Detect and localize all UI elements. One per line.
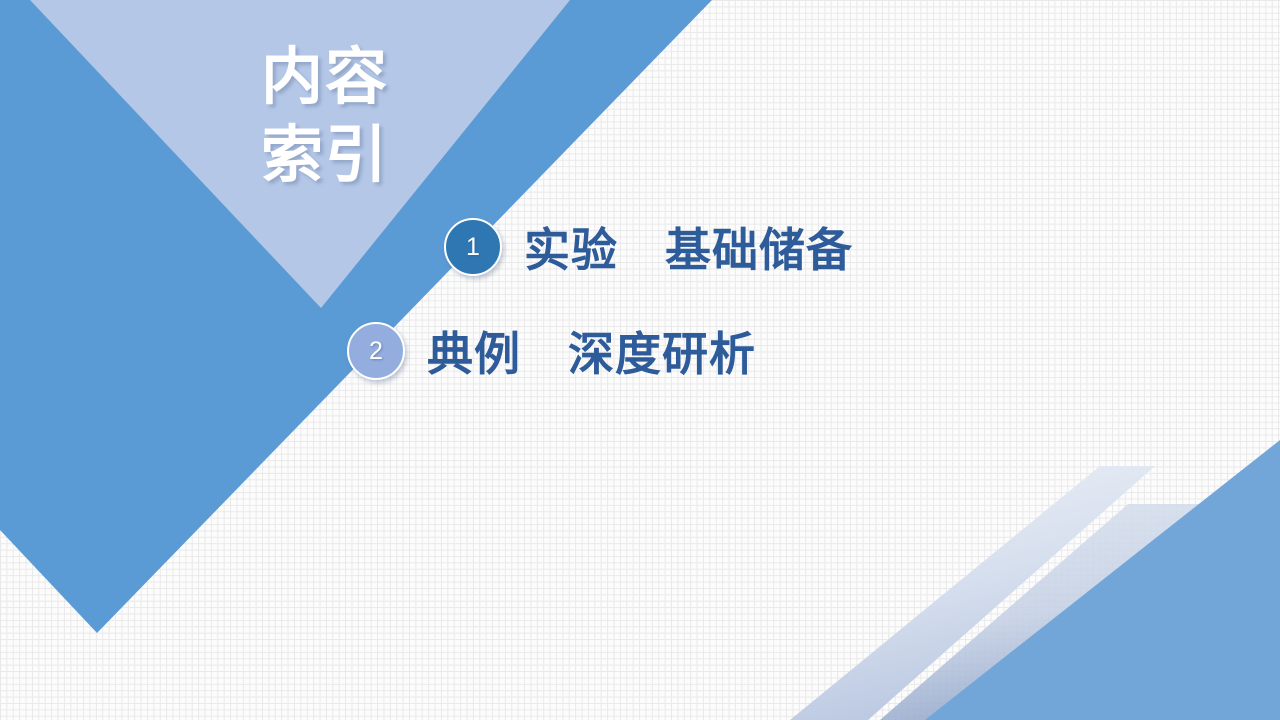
index-number-badge-2[interactable]: 2 bbox=[347, 322, 405, 380]
slide-canvas: 内容 索引 1 实验 基础储备 2 典例 深度研析 bbox=[0, 0, 1280, 720]
index-item-1[interactable]: 1 实验 基础储备 bbox=[444, 214, 853, 280]
page-title-line-2: 索引 bbox=[210, 116, 440, 194]
index-number-2: 2 bbox=[369, 337, 383, 366]
index-number-1: 1 bbox=[466, 233, 480, 262]
index-item-label-1: 实验 基础储备 bbox=[524, 214, 853, 280]
index-item-label-2: 典例 深度研析 bbox=[427, 318, 756, 384]
page-title-line-1: 内容 bbox=[210, 38, 440, 116]
page-title: 内容 索引 bbox=[210, 38, 440, 194]
index-number-badge-1[interactable]: 1 bbox=[444, 218, 502, 276]
index-item-2[interactable]: 2 典例 深度研析 bbox=[347, 318, 756, 384]
